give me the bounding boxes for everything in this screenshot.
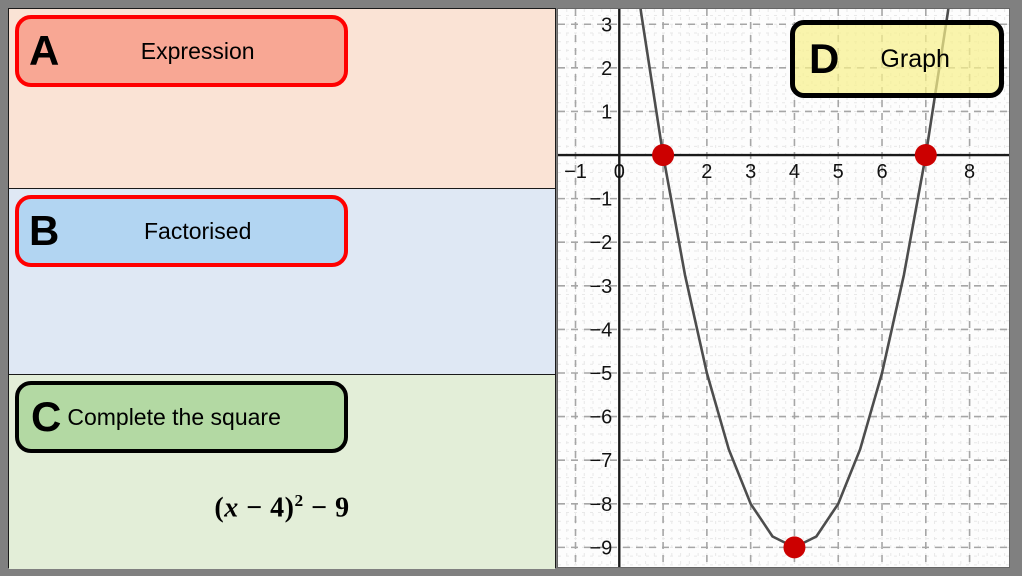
card-c-complete-the-square[interactable]: C Complete the square xyxy=(15,381,348,453)
expr-minus-a: − xyxy=(239,492,270,523)
graph-panel: −10234568321−1−2−3−4−5−6−7−8−9 D Graph xyxy=(557,8,1010,568)
svg-text:−7: −7 xyxy=(589,450,612,472)
card-letter-a: A xyxy=(29,30,67,72)
card-a-expression[interactable]: A Expression xyxy=(15,15,348,87)
section-expression: A Expression xyxy=(9,9,555,189)
svg-text:−4: −4 xyxy=(589,319,612,341)
card-b-factorised[interactable]: B Factorised xyxy=(15,195,348,267)
section-complete-the-square: C Complete the square (x − 4)2 − 9 xyxy=(9,375,555,569)
svg-text:1: 1 xyxy=(601,101,612,123)
card-letter-b: B xyxy=(29,210,67,252)
completed-square-expression: (x − 4)2 − 9 xyxy=(9,491,555,524)
svg-text:−8: −8 xyxy=(589,494,612,516)
expr-close-paren: ) xyxy=(285,492,295,523)
card-label-complete-the-square: Complete the square xyxy=(67,404,338,431)
card-label-graph: Graph xyxy=(839,45,999,74)
svg-text:0: 0 xyxy=(614,161,625,183)
expr-exponent: 2 xyxy=(294,491,303,510)
svg-text:3: 3 xyxy=(745,161,756,183)
section-factorised: B Factorised xyxy=(9,189,555,375)
svg-text:−2: −2 xyxy=(589,232,612,254)
left-panel: A Expression B Factorised C Complete the… xyxy=(8,8,556,568)
svg-text:8: 8 xyxy=(964,161,975,183)
card-label-expression: Expression xyxy=(67,38,338,65)
svg-text:−3: −3 xyxy=(589,276,612,298)
svg-text:5: 5 xyxy=(833,161,844,183)
card-d-graph[interactable]: D Graph xyxy=(790,20,1004,98)
svg-text:−6: −6 xyxy=(589,407,612,429)
svg-text:2: 2 xyxy=(601,58,612,80)
expr-open-paren: ( xyxy=(214,492,224,523)
slide-canvas: A Expression B Factorised C Complete the… xyxy=(0,0,1022,576)
svg-text:−5: −5 xyxy=(589,363,612,385)
svg-text:6: 6 xyxy=(876,161,887,183)
card-letter-c: C xyxy=(31,396,67,438)
card-letter-d: D xyxy=(809,38,839,80)
svg-text:−1: −1 xyxy=(589,189,612,211)
svg-text:−1: −1 xyxy=(564,161,587,183)
svg-text:−9: −9 xyxy=(589,537,612,559)
expr-variable: x xyxy=(224,492,239,523)
expr-four: 4 xyxy=(270,492,285,523)
svg-text:4: 4 xyxy=(789,161,800,183)
expr-minus-b: − xyxy=(304,492,335,523)
card-label-factorised: Factorised xyxy=(67,218,338,245)
expr-nine: 9 xyxy=(335,492,350,523)
svg-text:3: 3 xyxy=(601,14,612,36)
svg-text:2: 2 xyxy=(701,161,712,183)
